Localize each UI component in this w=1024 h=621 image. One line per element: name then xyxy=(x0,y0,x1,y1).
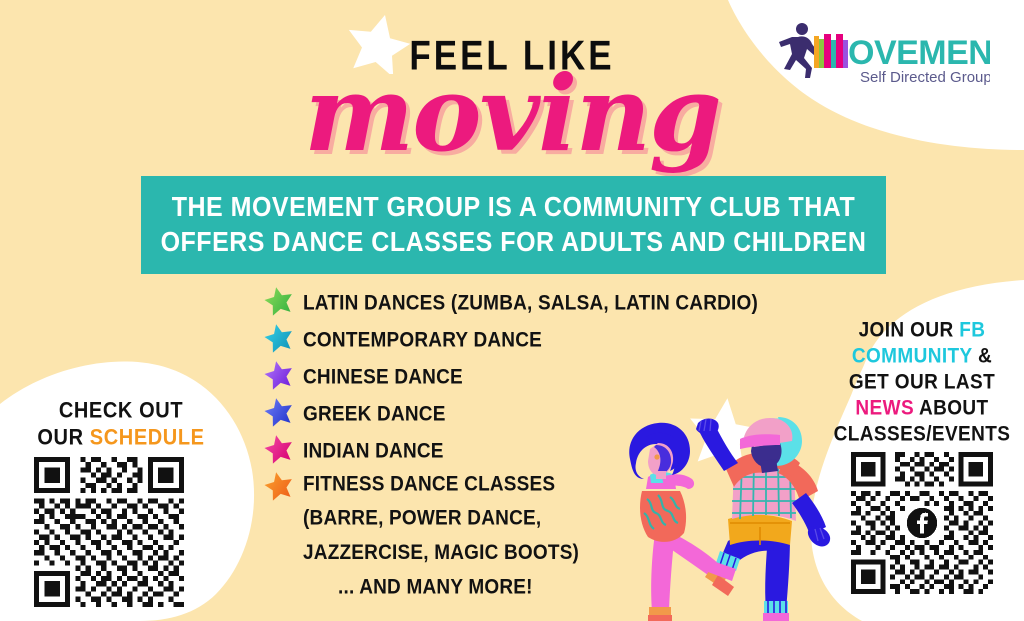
headline-script-moving: moving xyxy=(0,62,1024,166)
facebook-cta-prefix: JOIN OUR xyxy=(859,319,960,343)
list-item-label: LATIN DANCES (ZUMBA, SALSA, LATIN CARDIO… xyxy=(303,283,758,324)
star-bullet-orange-icon xyxy=(264,471,294,501)
banner-line-2: OFFERS DANCE CLASSES FOR ADULTS AND CHIL… xyxy=(161,223,867,263)
dancer-right xyxy=(696,417,830,621)
facebook-qr-code[interactable] xyxy=(851,452,993,594)
facebook-cta-line-5: CLASSES/EVENTS xyxy=(832,420,1012,449)
two-dancers-illustration xyxy=(600,415,835,621)
list-item: CONTEMPORARY DANCE xyxy=(264,322,794,359)
facebook-cta-ampersand: & xyxy=(972,345,992,369)
poster-canvas: OVEMENT Self Directed Group FEEL LIKE mo… xyxy=(0,0,1024,621)
star-bullet-blue-icon xyxy=(264,397,294,427)
list-item: LATIN DANCES (ZUMBA, SALSA, LATIN CARDIO… xyxy=(264,285,794,322)
star-bullet-purple-icon xyxy=(264,360,294,390)
facebook-cta-about: ABOUT xyxy=(914,397,989,421)
list-item: CHINESE DANCE xyxy=(264,359,794,396)
schedule-cta-prefix: OUR xyxy=(37,426,89,451)
banner-line-1: THE MOVEMENT GROUP IS A COMMUNITY CLUB T… xyxy=(172,187,856,227)
facebook-cta-line-4: NEWS ABOUT xyxy=(832,394,1012,423)
schedule-qr-code[interactable] xyxy=(34,457,184,607)
schedule-cta-accent: SCHEDULE xyxy=(90,426,205,451)
star-bullet-green-icon xyxy=(264,286,294,316)
list-item-label: CHINESE DANCE xyxy=(303,357,463,398)
list-item-label: CONTEMPORARY DANCE xyxy=(303,320,542,361)
schedule-cta-line-1: CHECK OUT xyxy=(26,396,216,426)
star-bullet-magenta-icon xyxy=(264,434,294,464)
facebook-cta-line-2: COMMUNITY & xyxy=(832,342,1012,371)
list-item-label: GREEK DANCE xyxy=(303,394,446,435)
facebook-cta: JOIN OUR FB COMMUNITY & GET OUR LAST NEW… xyxy=(832,318,1012,448)
schedule-cta: CHECK OUT OUR SCHEDULE xyxy=(26,398,216,452)
facebook-cta-fb-accent: FB xyxy=(959,319,985,343)
description-banner: THE MOVEMENT GROUP IS A COMMUNITY CLUB T… xyxy=(141,176,886,274)
list-item-label: FITNESS DANCE CLASSES (BARRE, POWER DANC… xyxy=(303,465,579,570)
facebook-icon xyxy=(907,508,937,538)
facebook-cta-community-accent: COMMUNITY xyxy=(852,345,972,369)
facebook-cta-line-3: GET OUR LAST xyxy=(832,368,1012,397)
facebook-cta-line-1: JOIN OUR FB xyxy=(832,316,1012,345)
facebook-cta-news-accent: NEWS xyxy=(855,397,914,421)
star-bullet-cyan-icon xyxy=(264,323,294,353)
schedule-cta-line-2: OUR SCHEDULE xyxy=(26,423,216,453)
